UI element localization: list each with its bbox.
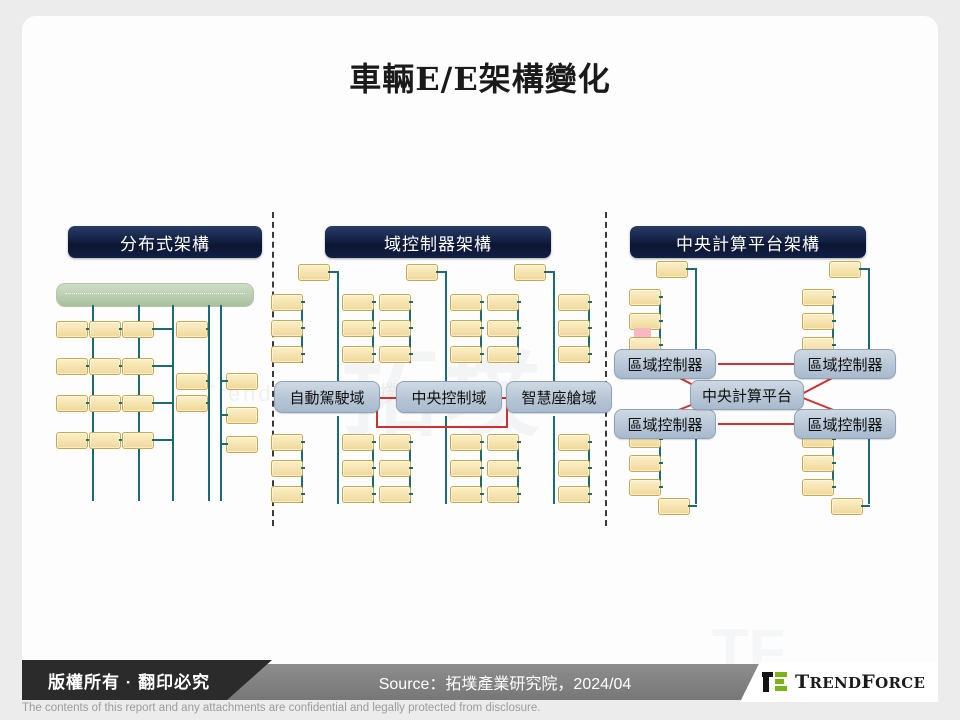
bus-line <box>553 416 555 504</box>
backbone-bus <box>56 283 254 307</box>
bus-stub <box>588 301 592 303</box>
bus-stub <box>409 353 413 355</box>
ecu-node <box>379 346 411 363</box>
diagram-central-compute: 區域控制器 區域控制器 區域控制器 區域控制器 中央計算平台 <box>614 256 929 528</box>
ecu-node <box>450 320 482 337</box>
bus-stub <box>152 402 173 404</box>
ecu-node <box>271 320 303 337</box>
ecu-node <box>379 294 411 311</box>
bus-stub <box>517 353 521 355</box>
ecu-node <box>122 395 154 412</box>
source-text: Source：拓墣產業研究院，2024/04 <box>270 664 740 700</box>
ecu-node <box>89 395 121 412</box>
domain-box-autonomous-driving[interactable]: 自動駕駛域 <box>274 381 380 413</box>
bus-stub <box>206 380 210 382</box>
ecu-node <box>226 373 258 390</box>
bus-stub <box>222 414 228 416</box>
ecu-node <box>379 434 411 451</box>
bus-stub <box>588 353 592 355</box>
bus-line <box>445 416 447 504</box>
bus-stub <box>517 467 521 469</box>
bus-stub <box>480 493 484 495</box>
ecu-node <box>487 434 519 451</box>
bus-stub <box>409 493 413 495</box>
bus-stub <box>152 365 173 367</box>
central-platform-label: 中央計算平台 <box>702 385 792 406</box>
bus-stub <box>301 301 305 303</box>
bus-stub <box>301 493 305 495</box>
ecu-node <box>342 294 374 311</box>
bus-stub <box>206 402 210 404</box>
ecu-node <box>342 486 374 503</box>
ecu-node <box>271 346 303 363</box>
bus-stub <box>222 443 228 445</box>
bus-stub <box>409 441 413 443</box>
bus-line <box>445 271 447 391</box>
ecu-node <box>558 294 590 311</box>
ecu-node <box>226 436 258 453</box>
ecu-node <box>487 294 519 311</box>
domain-box-central-control[interactable]: 中央控制域 <box>396 381 502 413</box>
ecu-node <box>487 320 519 337</box>
central-computing-platform-box[interactable]: 中央計算平台 <box>690 380 804 410</box>
zonal-controller-label: 區域控制器 <box>807 414 882 435</box>
bus-stub <box>152 439 173 441</box>
bus-stub <box>480 301 484 303</box>
ecu-node <box>271 486 303 503</box>
domain-label: 中央控制域 <box>411 387 486 408</box>
slide-card: 拓墣 TrendForce 拓墣產業研究院 TF 車輛E/E架構變化 分布式架構… <box>22 16 938 664</box>
bus-stub <box>588 467 592 469</box>
bus-stub <box>409 327 413 329</box>
trendforce-logo: TRENDFORCE <box>740 662 938 702</box>
bus-stub <box>588 327 592 329</box>
section-header-domain-controller: 域控制器架構 <box>325 226 551 258</box>
ecu-node <box>226 407 258 424</box>
ecu-node <box>379 486 411 503</box>
ecu-node <box>558 486 590 503</box>
diagram-domain-controller: 自動駕駛域 中央控制域 智慧座艙域 <box>284 256 599 528</box>
ecu-node <box>487 460 519 477</box>
logo-orce: ORCE <box>875 674 925 692</box>
bus-stub <box>588 441 592 443</box>
ecu-node <box>379 460 411 477</box>
zonal-controller-top-left[interactable]: 區域控制器 <box>614 349 716 379</box>
ecu-node <box>450 486 482 503</box>
domain-label: 智慧座艙域 <box>521 387 596 408</box>
bus-stub <box>301 327 305 329</box>
ecu-node <box>176 373 208 390</box>
ecu-node <box>487 346 519 363</box>
ecu-node <box>271 294 303 311</box>
bus-stub <box>372 301 376 303</box>
ecu-node <box>342 460 374 477</box>
bus-stub <box>372 467 376 469</box>
domain-box-smart-cockpit[interactable]: 智慧座艙域 <box>506 381 612 413</box>
zonal-controller-bottom-right[interactable]: 區域控制器 <box>794 409 896 439</box>
ecu-node <box>56 321 88 338</box>
zonal-controller-bottom-left[interactable]: 區域控制器 <box>614 409 716 439</box>
bus-stub <box>517 441 521 443</box>
bus-stub <box>372 493 376 495</box>
bus-line <box>337 271 339 391</box>
ecu-node <box>379 320 411 337</box>
section-header-central-compute: 中央計算平台架構 <box>630 226 866 258</box>
ecu-node <box>342 346 374 363</box>
domain-label: 自動駕駛域 <box>289 387 364 408</box>
ecu-node <box>56 395 88 412</box>
ecu-node <box>89 358 121 375</box>
watermark-corner: TF <box>712 616 785 664</box>
bus-stub <box>517 301 521 303</box>
ecu-node <box>450 434 482 451</box>
trendforce-wordmark: TRENDFORCE <box>795 671 925 693</box>
ecu-node <box>122 432 154 449</box>
bus-stub <box>301 353 305 355</box>
ecu-node <box>56 432 88 449</box>
bus-line <box>337 416 339 504</box>
bus-stub <box>517 493 521 495</box>
logo-t: T <box>795 671 809 693</box>
bus-stub <box>480 327 484 329</box>
bus-stub <box>152 328 173 330</box>
bus-stub <box>517 327 521 329</box>
ecu-node <box>271 434 303 451</box>
ecu-node <box>558 460 590 477</box>
disclaimer-text: The contents of this report and any atta… <box>22 702 938 714</box>
ecu-node <box>450 460 482 477</box>
zonal-controller-top-right[interactable]: 區域控制器 <box>794 349 896 379</box>
section-divider-2 <box>605 212 607 526</box>
domain-bus-red <box>376 426 508 428</box>
ecu-node <box>122 321 154 338</box>
bus-stub <box>372 353 376 355</box>
bus-stub <box>588 493 592 495</box>
page-title: 車輛E/E架構變化 <box>22 54 938 100</box>
ecu-node <box>89 321 121 338</box>
ecu-node <box>558 320 590 337</box>
zonal-controller-label: 區域控制器 <box>807 354 882 375</box>
ecu-node <box>558 434 590 451</box>
ecu-node <box>89 432 121 449</box>
ecu-node <box>450 294 482 311</box>
ecu-node <box>558 346 590 363</box>
logo-rend: REND <box>809 674 861 692</box>
trendforce-mark-icon <box>762 670 788 694</box>
bus-stub <box>372 327 376 329</box>
bus-stub <box>409 467 413 469</box>
ecu-node <box>56 358 88 375</box>
ecu-node <box>176 395 208 412</box>
bus-stub <box>301 441 305 443</box>
ecu-node <box>271 460 303 477</box>
bus-line <box>553 271 555 391</box>
bus-line <box>220 305 222 501</box>
bus-stub <box>372 441 376 443</box>
ecu-node <box>514 264 546 281</box>
ecu-node <box>342 320 374 337</box>
diagram-distributed <box>56 261 266 526</box>
bus-stub <box>206 328 210 330</box>
section-header-distributed: 分布式架構 <box>68 226 262 258</box>
ecu-node <box>176 321 208 338</box>
logo-f: F <box>861 671 875 693</box>
bus-stub <box>301 467 305 469</box>
ecu-node <box>450 346 482 363</box>
zonal-controller-label: 區域控制器 <box>627 354 702 375</box>
zonal-controller-label: 區域控制器 <box>627 414 702 435</box>
bus-stub <box>480 353 484 355</box>
section-divider-1 <box>272 212 274 526</box>
ecu-node <box>342 434 374 451</box>
bus-stub <box>409 301 413 303</box>
ecu-node <box>406 264 438 281</box>
bus-stub <box>222 380 228 382</box>
ecu-node <box>298 264 330 281</box>
bus-stub <box>480 467 484 469</box>
ecu-node <box>122 358 154 375</box>
bus-stub <box>480 441 484 443</box>
ecu-node <box>487 486 519 503</box>
